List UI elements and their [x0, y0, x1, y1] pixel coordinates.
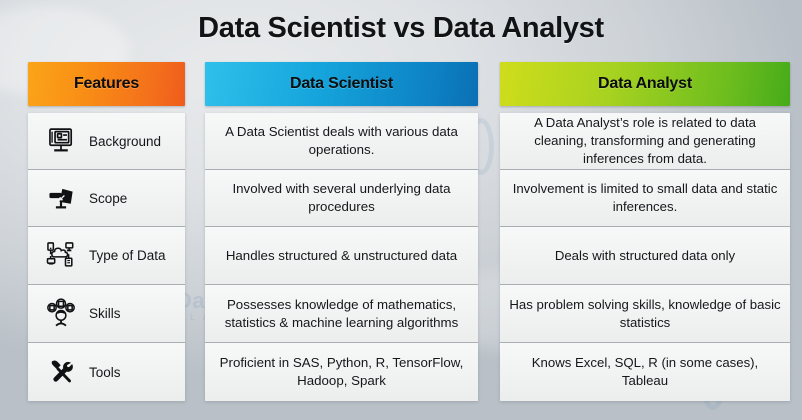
- table-cell[interactable]: Involvement is limited to small data and…: [500, 170, 790, 227]
- column-data-scientist: Data Scientist A Data Scientist deals wi…: [205, 62, 478, 401]
- cell-text: A Data Analyst’s role is related to data…: [508, 114, 782, 167]
- table-cell[interactable]: Involved with several underlying data pr…: [205, 170, 478, 227]
- table-cell[interactable]: Deals with structured data only: [500, 227, 790, 285]
- cell-text: Possesses knowledge of mathematics, stat…: [213, 296, 470, 332]
- cloud-network-devices-icon: [42, 237, 80, 275]
- table-cell[interactable]: Handles structured & unstructured data: [205, 227, 478, 285]
- column-body-features: Background Scope: [28, 113, 185, 401]
- feature-label: Tools: [89, 365, 121, 380]
- table-row[interactable]: Type of Data: [28, 227, 185, 285]
- column-header-label: Features: [74, 75, 139, 93]
- column-body-data-analyst: A Data Analyst’s role is related to data…: [500, 113, 790, 401]
- cell-text: Deals with structured data only: [555, 247, 735, 265]
- person-skills-badges-icon: [42, 295, 80, 333]
- feature-label: Skills: [89, 306, 121, 321]
- cell-text: Knows Excel, SQL, R (in some cases), Tab…: [508, 354, 782, 389]
- telescope-icon: [42, 179, 80, 217]
- cell-text: Involved with several underlying data pr…: [213, 180, 470, 216]
- column-features: Features: [28, 62, 185, 401]
- hammer-wrench-icon: [42, 353, 80, 391]
- comparison-table: Features: [0, 62, 802, 402]
- table-row[interactable]: Tools: [28, 343, 185, 401]
- table-row[interactable]: Background: [28, 113, 185, 170]
- infographic-canvas: Data F L A I R Data F L A I R Data Scien…: [0, 0, 802, 420]
- table-cell[interactable]: A Data Analyst’s role is related to data…: [500, 113, 790, 170]
- cell-text: A Data Scientist deals with various data…: [213, 123, 470, 159]
- column-header-data-scientist: Data Scientist: [205, 62, 478, 106]
- monitor-document-icon: [42, 122, 80, 160]
- cell-text: Involvement is limited to small data and…: [508, 180, 782, 215]
- column-header-data-analyst: Data Analyst: [500, 62, 790, 106]
- page-title: Data Scientist vs Data Analyst: [0, 12, 802, 45]
- table-row[interactable]: Skills: [28, 285, 185, 343]
- column-header-label: Data Scientist: [290, 75, 393, 93]
- table-cell[interactable]: Knows Excel, SQL, R (in some cases), Tab…: [500, 343, 790, 401]
- cell-text: Handles structured & unstructured data: [226, 247, 457, 265]
- table-cell[interactable]: Has problem solving skills, knowledge of…: [500, 285, 790, 343]
- table-cell[interactable]: Proficient in SAS, Python, R, TensorFlow…: [205, 343, 478, 401]
- column-header-features: Features: [28, 62, 185, 106]
- table-cell[interactable]: Possesses knowledge of mathematics, stat…: [205, 285, 478, 343]
- cell-text: Proficient in SAS, Python, R, TensorFlow…: [213, 354, 470, 390]
- feature-label: Background: [89, 134, 161, 149]
- table-cell[interactable]: A Data Scientist deals with various data…: [205, 113, 478, 170]
- feature-label: Type of Data: [89, 248, 166, 263]
- table-row[interactable]: Scope: [28, 170, 185, 227]
- feature-label: Scope: [89, 191, 127, 206]
- column-data-analyst: Data Analyst A Data Analyst’s role is re…: [500, 62, 790, 401]
- column-body-data-scientist: A Data Scientist deals with various data…: [205, 113, 478, 401]
- cell-text: Has problem solving skills, knowledge of…: [508, 296, 782, 331]
- column-header-label: Data Analyst: [598, 75, 692, 93]
